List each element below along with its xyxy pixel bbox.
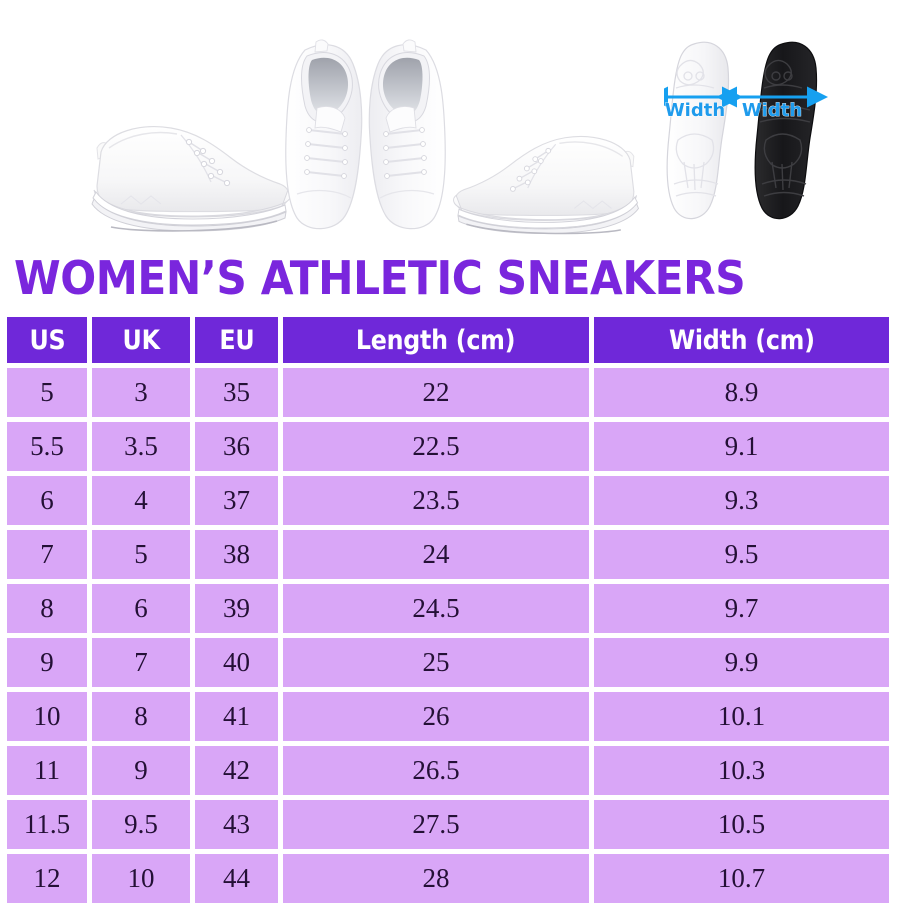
- cell-eu: 38: [195, 530, 283, 584]
- cell-us: 8: [7, 584, 92, 638]
- table-row: 5 3 35 22 8.9: [7, 368, 889, 422]
- cell-uk: 6: [92, 584, 195, 638]
- sneaker-soles-image: Width Width: [664, 34, 839, 234]
- table-row: 12 10 44 28 10.7: [7, 854, 889, 903]
- cell-us: 10: [7, 692, 92, 746]
- cell-eu: 44: [195, 854, 283, 903]
- cell-uk: 3.5: [92, 422, 195, 476]
- cell-width: 10.1: [594, 692, 889, 746]
- cell-uk: 5: [92, 530, 195, 584]
- size-chart-table: US UK EU Length (cm) Width (cm) 5 3 35 2…: [7, 317, 889, 903]
- cell-us: 9: [7, 638, 92, 692]
- cell-uk: 7: [92, 638, 195, 692]
- cell-width: 9.5: [594, 530, 889, 584]
- cell-us: 11: [7, 746, 92, 800]
- cell-length: 26.5: [283, 746, 594, 800]
- table-row: 11 9 42 26.5 10.3: [7, 746, 889, 800]
- cell-length: 22: [283, 368, 594, 422]
- cell-width: 9.3: [594, 476, 889, 530]
- cell-eu: 42: [195, 746, 283, 800]
- cell-us: 7: [7, 530, 92, 584]
- sneaker-side-right-image: [445, 122, 645, 240]
- column-header-eu-label: EU: [219, 325, 254, 356]
- table-row: 7 5 38 24 9.5: [7, 530, 889, 584]
- cell-length: 23.5: [283, 476, 594, 530]
- cell-eu: 37: [195, 476, 283, 530]
- page-title: WOMEN’S ATHLETIC SNEAKERS: [14, 247, 814, 309]
- table-header-row: US UK EU Length (cm) Width (cm): [7, 317, 889, 368]
- cell-us: 11.5: [7, 800, 92, 854]
- cell-length: 26: [283, 692, 594, 746]
- cell-eu: 35: [195, 368, 283, 422]
- cell-width: 10.3: [594, 746, 889, 800]
- width-label-left-sole: Width: [665, 100, 725, 121]
- column-header-length: Length (cm): [283, 317, 594, 368]
- cell-width: 8.9: [594, 368, 889, 422]
- table-row: 11.5 9.5 43 27.5 10.5: [7, 800, 889, 854]
- cell-us: 6: [7, 476, 92, 530]
- cell-uk: 8: [92, 692, 195, 746]
- table-row: 10 8 41 26 10.1: [7, 692, 889, 746]
- cell-length: 24: [283, 530, 594, 584]
- cell-length: 22.5: [283, 422, 594, 476]
- cell-us: 5.5: [7, 422, 92, 476]
- column-header-length-label: Length (cm): [356, 325, 515, 356]
- cell-width: 10.7: [594, 854, 889, 903]
- table-row: 6 4 37 23.5 9.3: [7, 476, 889, 530]
- column-header-us: US: [7, 317, 92, 368]
- cell-uk: 9.5: [92, 800, 195, 854]
- table-row: 5.5 3.5 36 22.5 9.1: [7, 422, 889, 476]
- cell-eu: 40: [195, 638, 283, 692]
- cell-uk: 10: [92, 854, 195, 903]
- cell-eu: 39: [195, 584, 283, 638]
- cell-eu: 43: [195, 800, 283, 854]
- column-header-uk-label: UK: [122, 325, 159, 356]
- width-label-right-sole: Width: [742, 100, 802, 121]
- sneaker-side-left-image: [85, 112, 300, 237]
- column-header-width-label: Width (cm): [669, 325, 815, 356]
- cell-width: 10.5: [594, 800, 889, 854]
- cell-length: 27.5: [283, 800, 594, 854]
- column-header-us-label: US: [29, 325, 65, 356]
- cell-eu: 36: [195, 422, 283, 476]
- column-header-eu: EU: [195, 317, 283, 368]
- sneaker-pair-top-image: [283, 34, 448, 239]
- product-photo-strip: Width Width: [0, 0, 900, 248]
- size-chart-body: 5 3 35 22 8.9 5.5 3.5 36 22.5 9.1 6 4 37…: [7, 368, 889, 903]
- cell-uk: 4: [92, 476, 195, 530]
- cell-us: 5: [7, 368, 92, 422]
- cell-width: 9.9: [594, 638, 889, 692]
- column-header-uk: UK: [92, 317, 195, 368]
- cell-uk: 9: [92, 746, 195, 800]
- cell-length: 24.5: [283, 584, 594, 638]
- table-row: 8 6 39 24.5 9.7: [7, 584, 889, 638]
- column-header-width: Width (cm): [594, 317, 889, 368]
- cell-width: 9.1: [594, 422, 889, 476]
- cell-length: 25: [283, 638, 594, 692]
- cell-us: 12: [7, 854, 92, 903]
- cell-eu: 41: [195, 692, 283, 746]
- cell-uk: 3: [92, 368, 195, 422]
- cell-length: 28: [283, 854, 594, 903]
- table-row: 9 7 40 25 9.9: [7, 638, 889, 692]
- cell-width: 9.7: [594, 584, 889, 638]
